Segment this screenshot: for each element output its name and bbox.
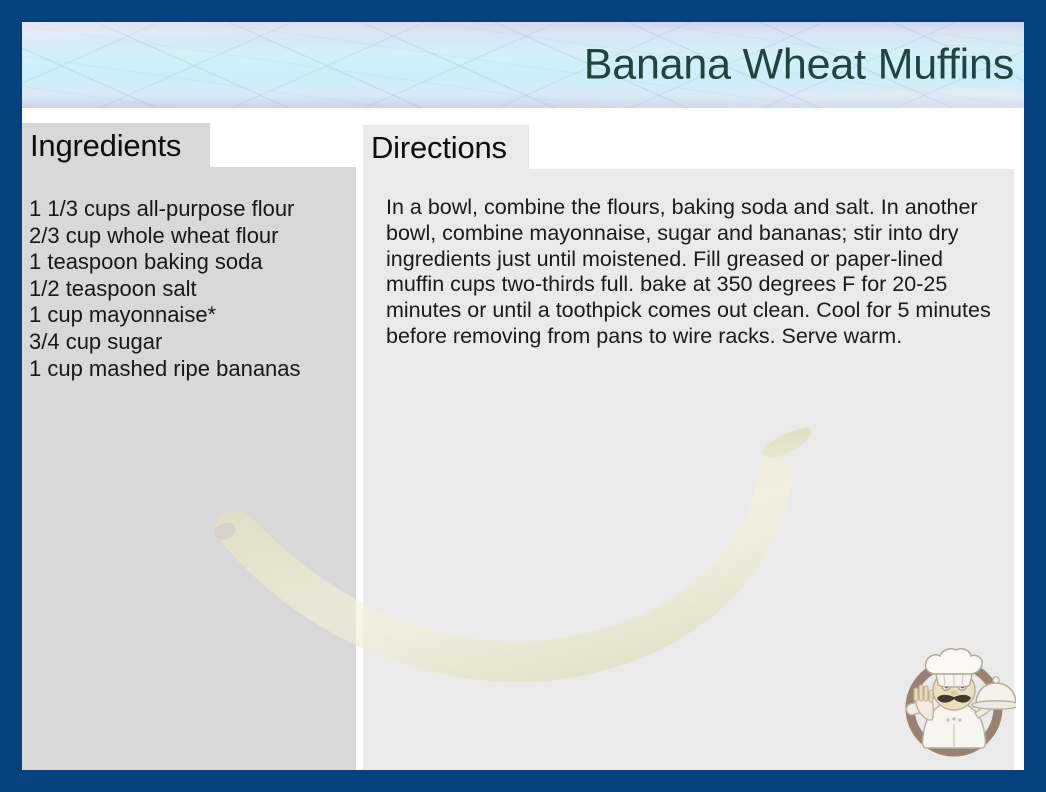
directions-tab[interactable]: Directions [363, 125, 529, 169]
list-item: 1 cup mayonnaise* [29, 302, 344, 329]
ingredients-tab[interactable]: Ingredients [22, 123, 210, 167]
list-item: 3/4 cup sugar [29, 329, 344, 356]
directions-text: In a bowl, combine the flours, baking so… [386, 195, 996, 350]
ingredients-list: 1 1/3 cups all-purpose flour 2/3 cup who… [29, 196, 344, 382]
list-item: 1 1/3 cups all-purpose flour [29, 196, 344, 223]
directions-tab-label: Directions [371, 132, 507, 163]
ingredients-body: 1 1/3 cups all-purpose flour 2/3 cup who… [22, 167, 356, 770]
list-item: 1 teaspoon baking soda [29, 249, 344, 276]
directions-body: In a bowl, combine the flours, baking so… [363, 169, 1014, 770]
page-title: Banana Wheat Muffins [584, 42, 1014, 87]
ingredients-tab-label: Ingredients [30, 130, 181, 161]
list-item: 2/3 cup whole wheat flour [29, 223, 344, 250]
recipe-slide: Banana Wheat Muffins Ingredients 1 1/3 c… [0, 0, 1046, 792]
directions-panel: Directions In a bowl, combine the flours… [363, 125, 1014, 770]
list-item: 1 cup mashed ripe bananas [29, 356, 344, 383]
title-banner: Banana Wheat Muffins [22, 22, 1030, 108]
ingredients-panel: Ingredients 1 1/3 cups all-purpose flour… [22, 123, 356, 770]
list-item: 1/2 teaspoon salt [29, 276, 344, 303]
